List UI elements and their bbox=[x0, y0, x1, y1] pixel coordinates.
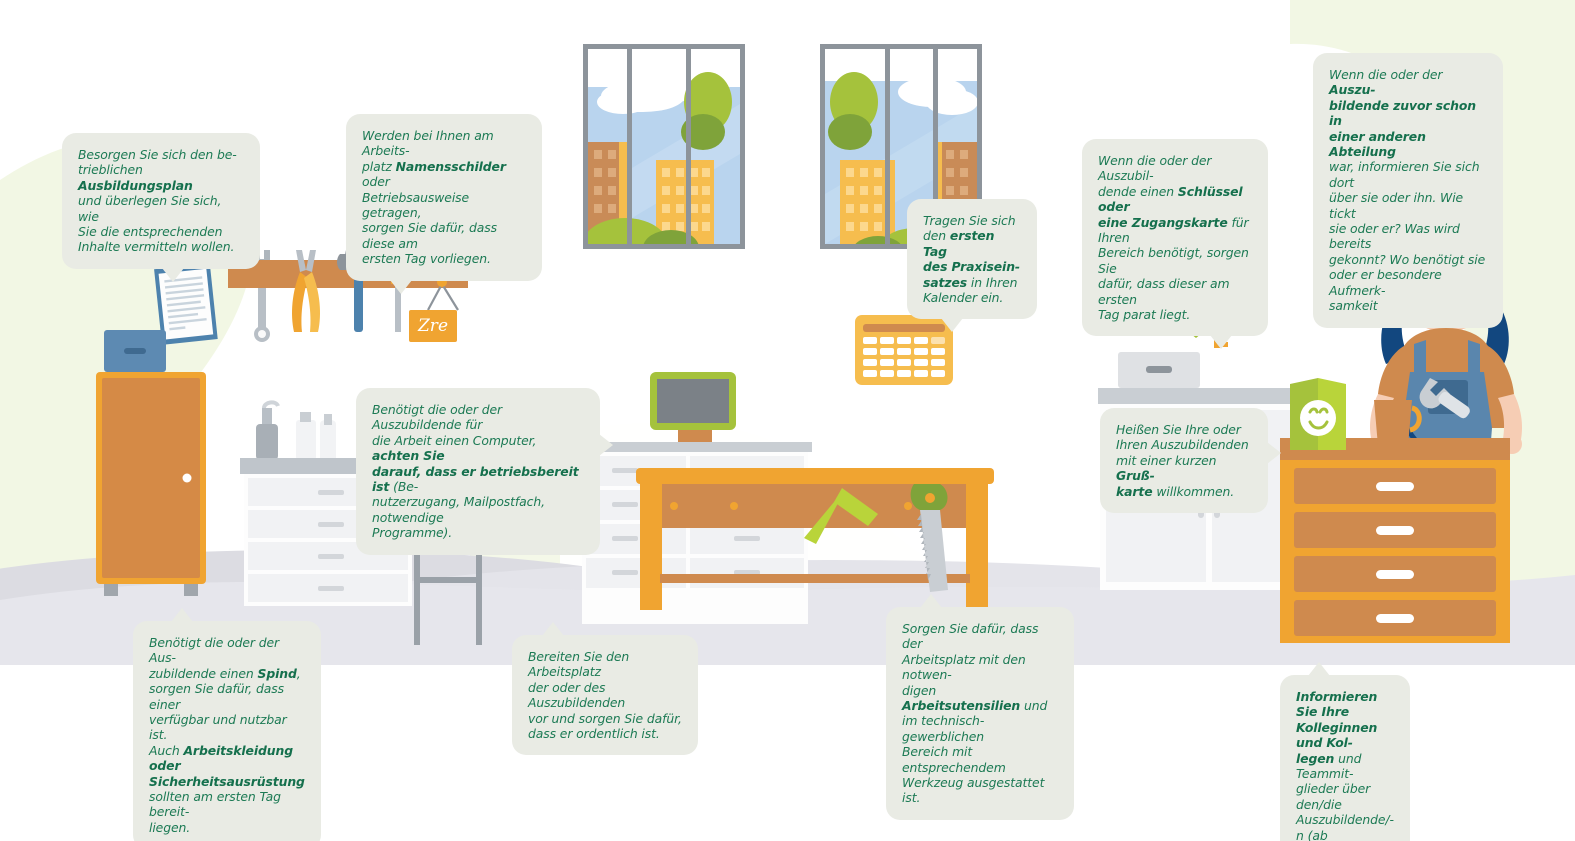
bubble-tail bbox=[920, 594, 942, 608]
greeting-card bbox=[1288, 378, 1348, 450]
bubble-text: Tragen Sie sichden ersten Tagdes Praxise… bbox=[923, 213, 1020, 305]
bubble-kollegen[interactable]: Informieren Sie IhreKolleginnen und Kol-… bbox=[1280, 675, 1410, 841]
bubble-text: Wenn die oder der Auszu-bildende zuvor s… bbox=[1329, 67, 1485, 313]
workbench-area bbox=[578, 368, 1058, 638]
wall-sign-text: Zre bbox=[418, 316, 448, 336]
bubble-arbeitsplatz[interactable]: Bereiten Sie den Arbeitsplatzder oder de… bbox=[512, 635, 698, 755]
locker bbox=[88, 330, 218, 610]
bubble-text: Besorgen Sie sich den be-trieblichen Aus… bbox=[78, 147, 237, 254]
wall-sign: Zre bbox=[409, 310, 457, 342]
bubble-tail bbox=[599, 434, 613, 456]
bubble-text: Heißen Sie Ihre oderIhren Auszubildenden… bbox=[1116, 422, 1249, 499]
infographic-canvas: Zre bbox=[0, 0, 1575, 841]
bubble-tail bbox=[1308, 662, 1330, 676]
bubble-text: Benötigt die oder der Auszubildende für … bbox=[372, 402, 579, 540]
bubble-text: Informieren Sie IhreKolleginnen und Kol-… bbox=[1296, 689, 1406, 841]
bubble-tail bbox=[1267, 442, 1281, 464]
bubble-text: Benötigt die oder der Aus-zubildende ein… bbox=[149, 635, 305, 835]
bubble-tail bbox=[1210, 335, 1232, 349]
bubble-tail bbox=[542, 622, 564, 636]
bubble-grusskarte[interactable]: Heißen Sie Ihre oderIhren Auszubildenden… bbox=[1100, 408, 1268, 513]
computer-monitor bbox=[650, 372, 736, 442]
coffee-mug bbox=[1370, 398, 1424, 450]
bubble-text: Sorgen Sie dafür, dass derArbeitsplatz m… bbox=[902, 621, 1047, 805]
bubble-namensschilder[interactable]: Werden bei Ihnen am Arbeits-platz Namens… bbox=[346, 114, 542, 281]
bubble-arbeitsutensilien[interactable]: Sorgen Sie dafür, dass derArbeitsplatz m… bbox=[886, 607, 1074, 820]
bubble-abteilung[interactable]: Wenn die oder der Auszu-bildende zuvor s… bbox=[1313, 53, 1503, 328]
bubble-text: Bereiten Sie den Arbeitsplatzder oder de… bbox=[528, 649, 682, 741]
bubble-schluessel[interactable]: Wenn die oder der Auszubil-dende einen S… bbox=[1082, 139, 1268, 336]
window-left bbox=[583, 44, 745, 249]
bubble-ausbildungsplan[interactable]: Besorgen Sie sich den be-trieblichen Aus… bbox=[62, 133, 260, 269]
wooden-drawer-unit bbox=[1280, 438, 1510, 643]
bubble-tail bbox=[171, 608, 193, 622]
bubble-spind[interactable]: Benötigt die oder der Aus-zubildende ein… bbox=[133, 621, 321, 841]
bubble-text: Werden bei Ihnen am Arbeits-platz Namens… bbox=[362, 128, 506, 266]
bubble-tail bbox=[941, 318, 963, 332]
bubble-text: Wenn die oder der Auszubil-dende einen S… bbox=[1098, 153, 1249, 322]
bubble-tail bbox=[162, 268, 184, 282]
bubble-tail bbox=[390, 280, 412, 294]
bubble-computer[interactable]: Benötigt die oder der Auszubildende für … bbox=[356, 388, 600, 555]
bubble-kalender[interactable]: Tragen Sie sichden ersten Tagdes Praxise… bbox=[907, 199, 1037, 319]
